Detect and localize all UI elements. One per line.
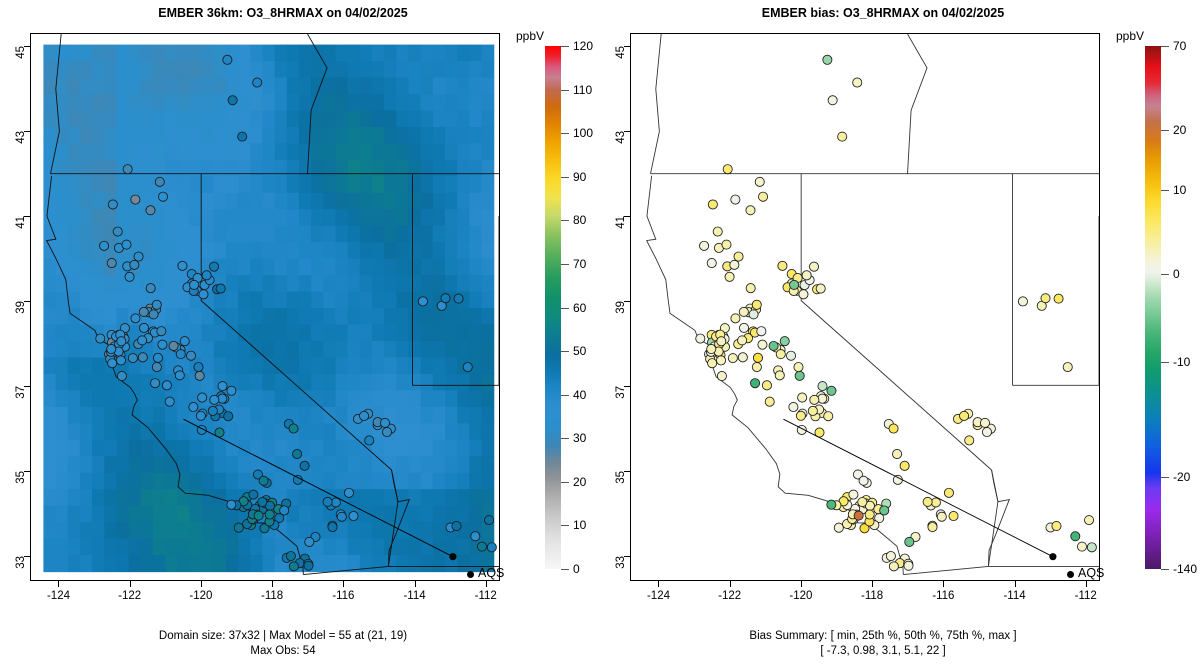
aqs-station-marker[interactable]	[904, 561, 913, 570]
aqs-station-marker[interactable]	[117, 337, 126, 346]
aqs-station-marker[interactable]	[280, 506, 289, 515]
aqs-station-marker[interactable]	[259, 476, 268, 485]
aqs-station-marker[interactable]	[1071, 532, 1080, 541]
x-tick-label: -116	[332, 590, 354, 602]
y-tick-label: 39	[15, 301, 27, 314]
aqs-station-marker[interactable]	[452, 521, 461, 530]
model-colorbar-tick	[561, 351, 569, 352]
aqs-station-marker[interactable]	[746, 206, 755, 215]
y-tick-label: 37	[615, 386, 627, 399]
aqs-station-marker[interactable]	[304, 561, 313, 570]
aqs-station-marker[interactable]	[834, 523, 843, 532]
aqs-station-marker[interactable]	[477, 542, 486, 551]
aqs-station-marker[interactable]	[131, 314, 140, 323]
bias-colorbar-unit: ppbV	[1116, 29, 1144, 43]
aqs-station-marker[interactable]	[96, 334, 105, 343]
aqs-station-marker[interactable]	[858, 498, 867, 507]
bias-colorbar-ticks: -140-20-100102070	[1161, 46, 1200, 569]
aqs-station-marker[interactable]	[809, 262, 818, 271]
x-tick	[730, 581, 731, 587]
bias-colorbar-tick	[1161, 477, 1169, 478]
aqs-station-marker[interactable]	[198, 393, 207, 402]
aqs-station-marker[interactable]	[123, 165, 132, 174]
model-colorbar-tick-label: 110	[573, 83, 592, 97]
aqs-station-marker[interactable]	[789, 402, 798, 411]
map-boundary	[988, 470, 998, 566]
aqs-station-marker[interactable]	[722, 240, 731, 249]
aqs-station-marker[interactable]	[753, 353, 762, 362]
aqs-station-marker[interactable]	[349, 511, 358, 520]
aqs-station-marker[interactable]	[238, 132, 247, 141]
aqs-station-marker[interactable]	[218, 382, 227, 391]
aqs-station-marker[interactable]	[131, 195, 140, 204]
aqs-station-marker[interactable]	[189, 402, 198, 411]
aqs-station-marker[interactable]	[210, 395, 219, 404]
aqs-station-marker[interactable]	[227, 386, 236, 395]
bias-colorbar-tick	[1161, 190, 1169, 191]
bias-colorbar-tick	[1161, 569, 1169, 570]
model-colorbar-tick-label: 50	[573, 344, 586, 358]
aqs-station-marker[interactable]	[128, 354, 137, 363]
panel-model: EMBER 36km: O3_8HRMAX on 04/02/2025	[0, 0, 600, 672]
y-tick-label: 33	[15, 556, 27, 569]
aqs-station-marker[interactable]	[707, 344, 716, 353]
aqs-station-marker[interactable]	[253, 78, 262, 87]
aqs-station-marker[interactable]	[700, 241, 709, 250]
bias-colorbar: ppbV -140-20-100102070	[1114, 33, 1200, 581]
model-colorbar-tick-label: 10	[573, 518, 586, 532]
aqs-station-marker[interactable]	[786, 351, 795, 360]
aqs-station-marker[interactable]	[216, 284, 225, 293]
model-colorbar-tick	[561, 438, 569, 439]
aqs-station-marker[interactable]	[196, 411, 205, 420]
aqs-station-marker[interactable]	[738, 353, 747, 362]
aqs-station-marker[interactable]	[146, 206, 155, 215]
aqs-station-marker[interactable]	[138, 353, 147, 362]
aqs-station-marker[interactable]	[328, 523, 337, 532]
aqs-station-marker[interactable]	[824, 412, 833, 421]
aqs-station-marker[interactable]	[365, 436, 374, 445]
model-colorbar-tick	[561, 308, 569, 309]
model-colorbar-tick-label: 20	[573, 475, 586, 489]
aqs-station-marker[interactable]	[928, 523, 937, 532]
aqs-station-marker[interactable]	[138, 336, 147, 345]
aqs-station-marker[interactable]	[905, 537, 914, 546]
aqs-station-marker[interactable]	[795, 371, 804, 380]
aqs-station-marker[interactable]	[286, 552, 295, 561]
model-plot-box	[30, 33, 500, 581]
aqs-station-marker[interactable]	[717, 337, 726, 346]
aqs-station-marker[interactable]	[798, 393, 807, 402]
aqs-station-marker[interactable]	[158, 192, 167, 201]
aqs-station-marker[interactable]	[778, 261, 787, 270]
aqs-station-marker[interactable]	[696, 334, 705, 343]
bias-caption-line2: [ -7.3, 0.98, 3.1, 5.1, 22 ]	[583, 644, 1183, 659]
aqs-legend-point	[449, 553, 456, 560]
aqs-station-marker[interactable]	[471, 532, 480, 541]
aqs-station-marker[interactable]	[900, 461, 909, 470]
aqs-station-marker[interactable]	[180, 337, 189, 346]
aqs-station-marker[interactable]	[780, 337, 789, 346]
aqs-station-marker[interactable]	[816, 284, 825, 293]
map-boundary	[51, 34, 62, 174]
y-tick-label: 41	[615, 216, 627, 229]
aqs-station-marker[interactable]	[1063, 362, 1072, 371]
aqs-station-marker[interactable]	[208, 406, 217, 415]
x-tick	[486, 581, 487, 587]
bias-colorbar-tick-label: 70	[1173, 39, 1186, 53]
aqs-station-marker[interactable]	[755, 177, 764, 186]
aqs-station-marker[interactable]	[752, 362, 761, 371]
map-boundary	[308, 34, 328, 174]
model-colorbar-unit: ppbV	[516, 29, 544, 43]
aqs-station-marker[interactable]	[775, 371, 784, 380]
aqs-station-marker[interactable]	[1077, 542, 1086, 551]
bias-colorbar-tick-label: 0	[1173, 267, 1180, 281]
aqs-station-marker[interactable]	[107, 258, 116, 267]
aqs-station-marker[interactable]	[380, 418, 389, 427]
aqs-station-marker[interactable]	[331, 498, 340, 507]
aqs-station-marker[interactable]	[152, 362, 161, 371]
aqs-station-marker[interactable]	[1087, 543, 1096, 552]
aqs-station-marker[interactable]	[853, 78, 862, 87]
aqs-station-marker[interactable]	[949, 511, 958, 520]
model-colorbar-tick-label: 60	[573, 301, 586, 315]
aqs-station-marker[interactable]	[165, 397, 174, 406]
x-tick-label: -118	[261, 590, 283, 602]
aqs-station-marker[interactable]	[739, 323, 748, 332]
aqs-station-marker[interactable]	[790, 280, 799, 289]
bias-colorbar-tick	[1161, 274, 1169, 275]
aqs-station-marker[interactable]	[959, 411, 968, 420]
x-tick	[415, 581, 416, 587]
aqs-station-marker[interactable]	[484, 516, 493, 525]
aqs-station-marker[interactable]	[176, 350, 185, 359]
model-colorbar: ppbV 0102030405060708090100110120	[514, 33, 606, 581]
aqs-station-marker[interactable]	[190, 280, 199, 289]
model-colorbar-gradient	[545, 46, 561, 569]
aqs-station-marker[interactable]	[889, 562, 898, 571]
x-tick-label: -114	[403, 590, 425, 602]
bias-colorbar-gradient	[1145, 46, 1161, 569]
aqs-station-marker[interactable]	[716, 356, 725, 365]
aqs-station-marker[interactable]	[146, 284, 155, 293]
aqs-station-marker[interactable]	[769, 341, 778, 350]
aqs-station-marker[interactable]	[209, 262, 218, 271]
bias-map-vectors	[631, 34, 1099, 580]
aqs-station-marker[interactable]	[1084, 516, 1093, 525]
bias-colorbar-tick-label: 10	[1173, 183, 1186, 197]
model-colorbar-tick-label: 90	[573, 170, 586, 184]
aqs-station-marker[interactable]	[980, 418, 989, 427]
x-tick-label: -124	[47, 590, 70, 602]
bias-map-area	[631, 34, 1099, 580]
aqs-station-marker[interactable]	[708, 200, 717, 209]
aqs-station-marker[interactable]	[113, 227, 122, 236]
model-map-area	[31, 34, 499, 580]
aqs-station-marker[interactable]	[223, 55, 232, 64]
model-y-axis: 33353739414345	[0, 33, 30, 581]
aqs-station-marker[interactable]	[752, 300, 761, 309]
model-caption-line1: Domain size: 37x32 | Max Model = 55 at (…	[0, 629, 583, 644]
bias-x-axis: -124-122-120-118-116-114-112	[630, 581, 1100, 615]
panel-model-title: EMBER 36km: O3_8HRMAX on 04/02/2025	[0, 6, 583, 20]
x-tick	[1086, 581, 1087, 587]
aqs-station-marker[interactable]	[249, 490, 258, 499]
aqs-station-marker[interactable]	[100, 241, 109, 250]
aqs-station-marker[interactable]	[178, 261, 187, 270]
aqs-station-marker[interactable]	[194, 362, 203, 371]
aqs-station-marker[interactable]	[293, 475, 302, 484]
aqs-station-marker[interactable]	[828, 96, 837, 105]
aqs-station-marker[interactable]	[708, 359, 717, 368]
x-tick	[272, 581, 273, 587]
aqs-station-marker[interactable]	[893, 475, 902, 484]
aqs-station-marker[interactable]	[799, 290, 808, 299]
aqs-station-marker[interactable]	[854, 511, 863, 520]
bias-y-axis: 33353739414345	[600, 33, 630, 581]
x-tick-label: -124	[647, 590, 670, 602]
model-colorbar-tick	[561, 46, 569, 47]
aqs-station-marker[interactable]	[323, 497, 332, 506]
model-colorbar-tick	[561, 90, 569, 91]
aqs-station-marker[interactable]	[162, 381, 171, 390]
aqs-station-marker[interactable]	[731, 314, 740, 323]
aqs-station-marker[interactable]	[487, 543, 496, 552]
aqs-station-marker[interactable]	[865, 510, 874, 519]
aqs-station-marker[interactable]	[827, 386, 836, 395]
y-tick-label: 35	[15, 471, 27, 484]
model-colorbar-tick	[561, 220, 569, 221]
x-tick-label: -112	[475, 590, 497, 602]
aqs-station-marker[interactable]	[1052, 521, 1061, 530]
aqs-station-marker[interactable]	[982, 427, 991, 436]
aqs-station-marker[interactable]	[730, 260, 739, 269]
aqs-station-marker[interactable]	[713, 227, 722, 236]
bias-colorbar-tick-label: -140	[1173, 562, 1197, 576]
aqs-station-marker[interactable]	[254, 511, 263, 520]
model-colorbar-tick-label: 100	[573, 126, 593, 140]
aqs-station-marker[interactable]	[886, 552, 895, 561]
aqs-station-marker[interactable]	[359, 411, 368, 420]
bias-colorbar-tick	[1161, 46, 1169, 47]
bias-colorbar-tick-label: -10	[1173, 355, 1190, 369]
aqs-station-marker[interactable]	[762, 381, 771, 390]
aqs-legend-point	[1049, 553, 1056, 560]
y-tick-label: 41	[15, 216, 27, 229]
aqs-station-marker[interactable]	[849, 490, 858, 499]
x-tick-label: -114	[1003, 590, 1025, 602]
y-tick-label: 43	[615, 131, 627, 144]
bias-colorbar-tick	[1161, 130, 1169, 131]
aqs-station-marker[interactable]	[749, 310, 758, 319]
map-boundary	[651, 34, 662, 174]
aqs-station-marker[interactable]	[289, 424, 298, 433]
aqs-station-marker[interactable]	[757, 327, 766, 336]
aqs-station-marker[interactable]	[169, 341, 178, 350]
aqs-station-marker[interactable]	[157, 327, 166, 336]
aqs-station-marker[interactable]	[344, 488, 353, 497]
aqs-station-marker[interactable]	[707, 258, 716, 267]
aqs-station-marker[interactable]	[258, 498, 267, 507]
bias-colorbar-tick-label: 20	[1173, 123, 1186, 137]
aqs-station-marker[interactable]	[292, 449, 301, 458]
aqs-station-marker[interactable]	[382, 427, 391, 436]
aqs-station-marker[interactable]	[738, 336, 747, 345]
map-boundary	[988, 470, 1009, 566]
aqs-station-marker[interactable]	[880, 506, 889, 515]
aqs-station-marker[interactable]	[228, 96, 237, 105]
aqs-station-marker[interactable]	[734, 252, 743, 261]
aqs-station-marker[interactable]	[227, 500, 236, 509]
aqs-station-marker[interactable]	[122, 240, 131, 249]
x-tick-label: -120	[789, 590, 812, 602]
aqs-station-marker[interactable]	[892, 449, 901, 458]
aqs-station-marker[interactable]	[305, 537, 314, 546]
aqs-station-marker[interactable]	[454, 294, 463, 303]
aqs-station-marker[interactable]	[139, 307, 148, 316]
aqs-station-marker[interactable]	[937, 512, 946, 521]
aqs-station-marker[interactable]	[746, 284, 755, 293]
y-tick-label: 37	[15, 386, 27, 399]
x-tick-label: -112	[1075, 590, 1097, 602]
aqs-station-marker[interactable]	[155, 177, 164, 186]
model-colorbar-tick	[561, 177, 569, 178]
model-colorbar-tick	[561, 395, 569, 396]
x-tick	[58, 581, 59, 587]
aqs-station-marker[interactable]	[199, 290, 208, 299]
aqs-station-marker[interactable]	[202, 271, 211, 280]
aqs-station-marker[interactable]	[923, 497, 932, 506]
aqs-station-marker[interactable]	[765, 397, 774, 406]
aqs-station-marker[interactable]	[723, 165, 732, 174]
x-tick	[943, 581, 944, 587]
aqs-station-marker[interactable]	[153, 353, 162, 362]
aqs-station-marker[interactable]	[265, 510, 274, 519]
aqs-station-marker[interactable]	[838, 132, 847, 141]
model-colorbar-tick-label: 0	[573, 562, 580, 576]
aqs-station-marker[interactable]	[758, 340, 767, 349]
aqs-station-marker[interactable]	[150, 379, 159, 388]
aqs-station-marker[interactable]	[818, 382, 827, 391]
aqs-station-marker[interactable]	[810, 395, 819, 404]
model-colorbar-tick	[561, 133, 569, 134]
model-colorbar-tick	[561, 482, 569, 483]
model-colorbar-tick-label: 70	[573, 257, 586, 271]
model-colorbar-tick	[561, 569, 569, 570]
map-boundary	[388, 470, 409, 566]
aqs-station-marker[interactable]	[224, 412, 233, 421]
y-tick-label: 45	[615, 46, 627, 59]
aqs-station-marker[interactable]	[944, 488, 953, 497]
x-tick	[201, 581, 202, 587]
aqs-station-marker[interactable]	[827, 500, 836, 509]
model-colorbar-tick-label: 80	[573, 213, 586, 227]
aqs-station-marker[interactable]	[158, 340, 167, 349]
aqs-station-marker[interactable]	[130, 260, 139, 269]
model-x-axis: -124-122-120-118-116-114-112	[30, 581, 500, 615]
aqs-station-marker[interactable]	[739, 307, 748, 316]
aqs-station-marker[interactable]	[418, 297, 427, 306]
aqs-station-marker[interactable]	[152, 300, 161, 309]
aqs-station-marker[interactable]	[117, 371, 126, 380]
y-tick-label: 33	[615, 556, 627, 569]
aqs-station-marker[interactable]	[107, 344, 116, 353]
bias-colorbar-tick-label: -20	[1173, 470, 1190, 484]
map-boundary	[388, 470, 398, 566]
aqs-station-marker[interactable]	[1054, 294, 1063, 303]
y-tick-label: 45	[15, 46, 27, 59]
bias-colorbar-tick	[1161, 362, 1169, 363]
aqs-station-marker[interactable]	[725, 272, 734, 281]
bias-aqs-legend-dot	[1067, 571, 1074, 578]
aqs-station-marker[interactable]	[794, 362, 803, 371]
aqs-station-marker[interactable]	[731, 195, 740, 204]
aqs-station-marker[interactable]	[728, 354, 737, 363]
aqs-station-marker[interactable]	[337, 512, 346, 521]
panel-bias: EMBER bias: O3_8HRMAX on 04/02/2025 -124…	[600, 0, 1200, 672]
aqs-station-marker[interactable]	[1041, 294, 1050, 303]
aqs-station-marker[interactable]	[134, 252, 143, 261]
y-tick-label: 35	[615, 471, 627, 484]
aqs-station-marker[interactable]	[139, 323, 148, 332]
aqs-station-marker[interactable]	[965, 436, 974, 445]
aqs-station-marker[interactable]	[441, 294, 450, 303]
model-caption-line2: Max Obs: 54	[0, 644, 583, 659]
aqs-station-marker[interactable]	[463, 362, 472, 371]
aqs-station-marker[interactable]	[289, 562, 298, 571]
figure-canvas: EMBER 36km: O3_8HRMAX on 04/02/2025	[0, 0, 1200, 672]
aqs-station-marker[interactable]	[802, 271, 811, 280]
bias-caption-line1: Bias Summary: [ min, 25th %, 50th %, 75t…	[583, 629, 1183, 644]
model-colorbar-tick	[561, 525, 569, 526]
x-tick	[801, 581, 802, 587]
map-boundary	[908, 34, 928, 174]
x-tick-label: -122	[118, 590, 141, 602]
x-tick-label: -116	[932, 590, 954, 602]
aqs-station-marker[interactable]	[796, 411, 805, 420]
aqs-station-marker[interactable]	[823, 55, 832, 64]
aqs-station-marker[interactable]	[186, 351, 195, 360]
aqs-station-marker[interactable]	[149, 310, 158, 319]
aqs-station-marker[interactable]	[300, 461, 309, 470]
aqs-station-marker[interactable]	[234, 523, 243, 532]
aqs-station-marker[interactable]	[776, 350, 785, 359]
aqs-station-marker[interactable]	[931, 498, 940, 507]
aqs-station-marker[interactable]	[750, 379, 759, 388]
aqs-station-marker[interactable]	[108, 359, 117, 368]
aqs-station-marker[interactable]	[758, 192, 767, 201]
aqs-station-marker[interactable]	[175, 371, 184, 380]
bias-plot-box	[630, 33, 1100, 581]
y-tick-label: 39	[615, 301, 627, 314]
model-colorbar-tick-label: 120	[573, 39, 593, 53]
panel-bias-title: EMBER bias: O3_8HRMAX on 04/02/2025	[583, 6, 1183, 20]
aqs-station-marker[interactable]	[859, 476, 868, 485]
aqs-station-marker[interactable]	[808, 406, 817, 415]
aqs-station-marker[interactable]	[717, 371, 726, 380]
aqs-station-marker[interactable]	[195, 371, 204, 380]
aqs-station-marker[interactable]	[116, 356, 125, 365]
aqs-station-marker[interactable]	[125, 272, 134, 281]
model-colorbar-tick-label: 40	[573, 388, 586, 402]
model-colorbar-tick-label: 30	[573, 431, 586, 445]
x-tick	[1015, 581, 1016, 587]
aqs-station-marker[interactable]	[889, 424, 898, 433]
x-tick	[130, 581, 131, 587]
aqs-station-marker[interactable]	[108, 200, 117, 209]
aqs-station-marker[interactable]	[1018, 297, 1027, 306]
